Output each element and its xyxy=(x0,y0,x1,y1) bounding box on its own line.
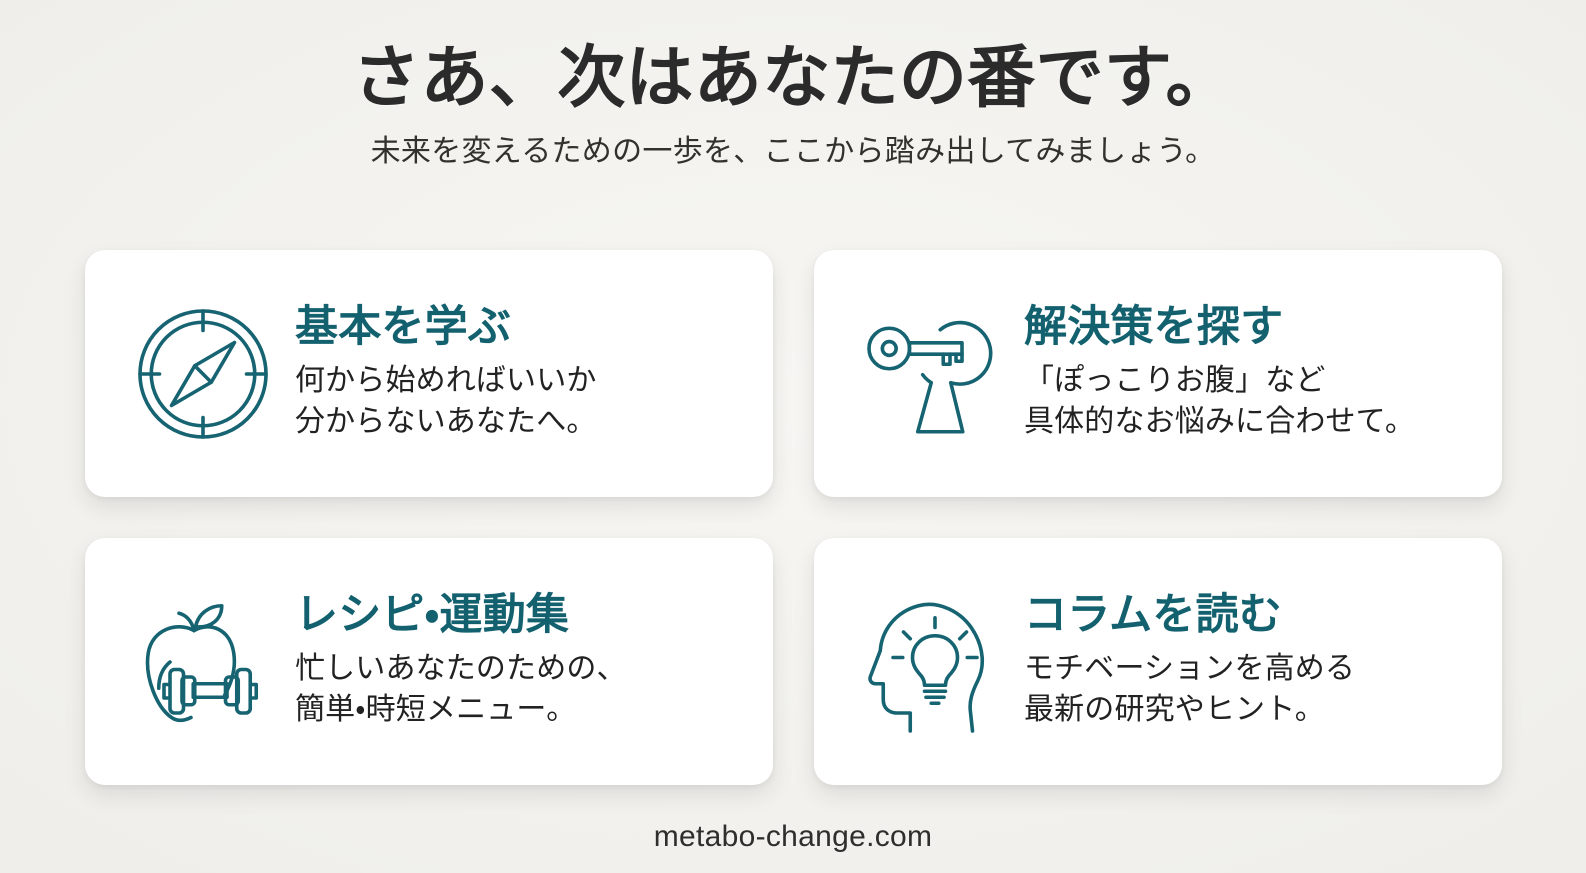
key-keyhole-icon xyxy=(848,290,1016,458)
card-title: コラムを読む xyxy=(1024,592,1476,638)
card-title: 解決策を探す xyxy=(1024,304,1476,350)
card-description-line-2: 簡単・時短メニュー。 xyxy=(295,690,747,731)
card-description: モチベーションを高める 最新の研究やヒント。 xyxy=(1024,649,1476,731)
card-description-line-2: 具体的なお悩みに合わせて。 xyxy=(1024,402,1476,443)
card-body: コラムを読む モチベーションを高める 最新の研究やヒント。 xyxy=(1016,592,1476,730)
card-grid: 基本を学ぶ 何から始めればいいか 分からないあなたへ。 xyxy=(85,250,1502,785)
apple-dumbbell-icon xyxy=(119,578,287,746)
card-description-line-2: 最新の研究やヒント。 xyxy=(1024,690,1476,731)
card-learn-basics[interactable]: 基本を学ぶ 何から始めればいいか 分からないあなたへ。 xyxy=(85,250,773,497)
site-url: metabo-change.com xyxy=(654,820,933,853)
card-body: 基本を学ぶ 何から始めればいいか 分からないあなたへ。 xyxy=(287,304,747,442)
page-subtitle: 未来を変えるための一歩を、ここから踏み出してみましょう。 xyxy=(0,134,1586,170)
card-title: レシピ・運動集 xyxy=(295,592,747,638)
card-body: レシピ・運動集 忙しいあなたのための、 簡単・時短メニュー。 xyxy=(287,592,747,730)
page-header: さあ、次はあなたの番です。 未来を変えるための一歩を、ここから踏み出してみましょ… xyxy=(0,44,1586,170)
card-recipes-exercise[interactable]: レシピ・運動集 忙しいあなたのための、 簡単・時短メニュー。 xyxy=(85,538,773,785)
page-title: さあ、次はあなたの番です。 xyxy=(0,44,1586,112)
card-find-solution[interactable]: 解決策を探す 「ぽっこりお腹」など 具体的なお悩みに合わせて。 xyxy=(814,250,1502,497)
page-footer: metabo-change.com xyxy=(0,819,1586,855)
card-body: 解決策を探す 「ぽっこりお腹」など 具体的なお悩みに合わせて。 xyxy=(1016,304,1476,442)
card-description-line-1: モチベーションを高める xyxy=(1024,649,1476,690)
card-description: 「ぽっこりお腹」など 具体的なお悩みに合わせて。 xyxy=(1024,361,1476,443)
promo-page: さあ、次はあなたの番です。 未来を変えるための一歩を、ここから踏み出してみましょ… xyxy=(0,0,1586,873)
compass-icon xyxy=(119,290,287,458)
card-read-column[interactable]: コラムを読む モチベーションを高める 最新の研究やヒント。 xyxy=(814,538,1502,785)
card-description-line-1: 何から始めればいいか xyxy=(295,361,747,402)
card-description-line-1: 忙しいあなたのための、 xyxy=(295,649,747,690)
head-lightbulb-icon xyxy=(848,578,1016,746)
card-description: 忙しいあなたのための、 簡単・時短メニュー。 xyxy=(295,649,747,731)
card-title: 基本を学ぶ xyxy=(295,304,747,350)
card-description: 何から始めればいいか 分からないあなたへ。 xyxy=(295,361,747,443)
card-description-line-1: 「ぽっこりお腹」など xyxy=(1024,361,1476,402)
card-description-line-2: 分からないあなたへ。 xyxy=(295,402,747,443)
